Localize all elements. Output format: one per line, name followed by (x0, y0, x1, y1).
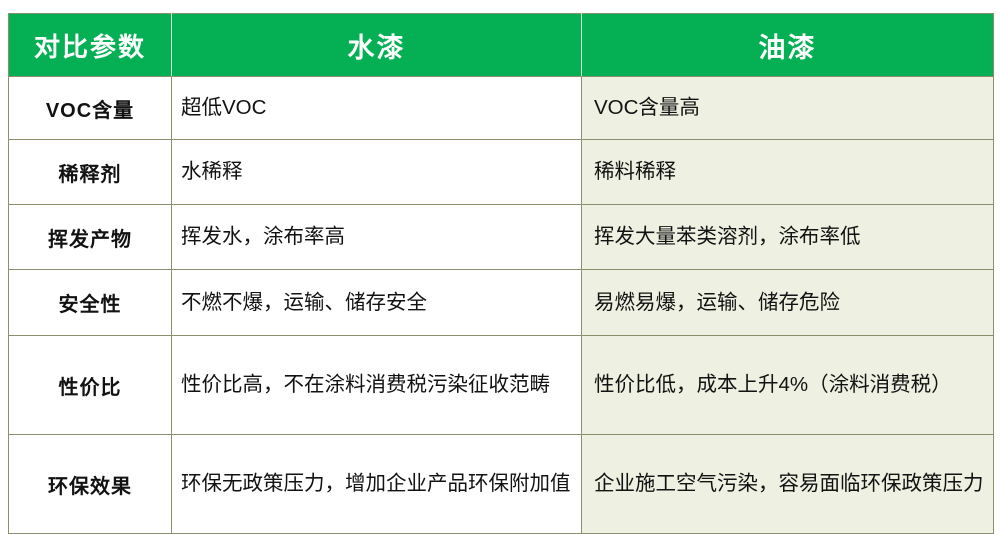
table-row: 挥发产物 挥发水，涂布率高 挥发大量苯类溶剂，涂布率低 (9, 205, 994, 270)
cell-oil-environmental-effect: 企业施工空气污染，容易面临环保政策压力 (582, 435, 994, 534)
cell-water-cost-performance: 性价比高，不在涂料消费税污染征收范畴 (172, 336, 582, 435)
cell-water-voc-content: 超低VOC (172, 77, 582, 140)
row-label-environmental-effect: 环保效果 (9, 435, 172, 534)
row-label-safety: 安全性 (9, 270, 172, 336)
cell-water-diluent: 水稀释 (172, 140, 582, 205)
column-header-parameter: 对比参数 (9, 14, 172, 77)
table-row: 安全性 不燃不爆，运输、储存安全 易燃易爆，运输、储存危险 (9, 270, 994, 336)
header-row: 对比参数 水漆 油漆 (9, 14, 994, 77)
cell-water-volatile-products: 挥发水，涂布率高 (172, 205, 582, 270)
table-row: 稀释剂 水稀释 稀料稀释 (9, 140, 994, 205)
table-row: 环保效果 环保无政策压力，增加企业产品环保附加值 企业施工空气污染，容易面临环保… (9, 435, 994, 534)
row-label-volatile-products: 挥发产物 (9, 205, 172, 270)
cell-oil-cost-performance: 性价比低，成本上升4%（涂料消费税） (582, 336, 994, 435)
cell-water-safety: 不燃不爆，运输、储存安全 (172, 270, 582, 336)
column-header-water-paint: 水漆 (172, 14, 582, 77)
page-root: 对比参数 水漆 油漆 VOC含量 超低VOC VOC含量高 稀释剂 水稀释 稀料… (0, 0, 1000, 482)
table-row: 性价比 性价比高，不在涂料消费税污染征收范畴 性价比低，成本上升4%（涂料消费税… (9, 336, 994, 435)
cell-oil-safety: 易燃易爆，运输、储存危险 (582, 270, 994, 336)
row-label-diluent: 稀释剂 (9, 140, 172, 205)
column-header-oil-paint: 油漆 (582, 14, 994, 77)
row-label-cost-performance: 性价比 (9, 336, 172, 435)
cell-oil-diluent: 稀料稀释 (582, 140, 994, 205)
paint-comparison-table: 对比参数 水漆 油漆 VOC含量 超低VOC VOC含量高 稀释剂 水稀释 稀料… (8, 13, 994, 534)
table-body: VOC含量 超低VOC VOC含量高 稀释剂 水稀释 稀料稀释 挥发产物 挥发水… (9, 77, 994, 534)
row-label-voc-content: VOC含量 (9, 77, 172, 140)
cell-water-environmental-effect: 环保无政策压力，增加企业产品环保附加值 (172, 435, 582, 534)
table-header: 对比参数 水漆 油漆 (9, 14, 994, 77)
cell-oil-voc-content: VOC含量高 (582, 77, 994, 140)
table-row: VOC含量 超低VOC VOC含量高 (9, 77, 994, 140)
cell-oil-volatile-products: 挥发大量苯类溶剂，涂布率低 (582, 205, 994, 270)
